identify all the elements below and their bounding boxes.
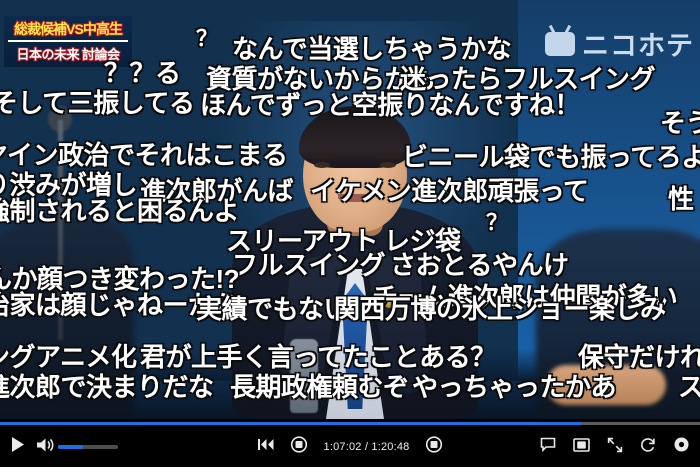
danmaku-comment: 性 [668, 186, 694, 212]
volume-control[interactable] [36, 437, 118, 458]
danmaku-comment: 保守だけれ [578, 344, 700, 370]
video-stage[interactable]: 総裁候補VS中高生 日本の未来 討論会 ニコホテ ？なんで当選しちゃうかな？？る… [0, 0, 700, 419]
reload-icon[interactable] [640, 437, 656, 458]
fullscreen-icon[interactable] [607, 437, 623, 458]
settings-gear-icon[interactable] [673, 436, 690, 458]
channel-logo-text: ニコホテ [582, 24, 694, 63]
danmaku-comment: 進次郎で決まりだな [0, 374, 214, 400]
danmaku-comment: 君が上手く言ってたことある？ [140, 344, 496, 370]
danmaku-comment: んか顔つき変わった!? [0, 266, 239, 292]
speaker-eye-left [314, 162, 330, 168]
danmaku-comment: 実績でもない [196, 296, 349, 322]
screenshot-button[interactable] [291, 436, 308, 458]
danmaku-comment: ビニール袋でも振ってろよ [402, 144, 700, 170]
volume-slider-fill [58, 445, 83, 449]
seek-bar[interactable] [0, 419, 700, 427]
play-button[interactable] [9, 436, 26, 458]
seek-progress-fill [0, 422, 581, 425]
danmaku-comment: ヤイン政治でそれはこまる [0, 142, 287, 168]
danmaku-comment: フルスイング [232, 252, 385, 278]
danmaku-comment: 長期政権頼むぞ [230, 374, 409, 400]
danmaku-comment: ほんでずっと空振りなんですね！ [200, 92, 580, 118]
tv-icon [545, 32, 575, 56]
volume-slider[interactable] [58, 445, 118, 449]
danmaku-comment: やっちゃったかあ [412, 374, 616, 400]
danmaku-comment: なんで当選しちゃうかな [232, 36, 511, 62]
speaker-eyebrow-right [378, 154, 398, 158]
danmaku-comment: 関西万博の氷上ショー楽しみ [334, 296, 666, 322]
danmaku-comment: り渋みが増し [0, 172, 137, 198]
capture-button[interactable] [425, 436, 442, 458]
program-logo-line1: 総裁候補VS中高生 [8, 19, 128, 39]
picture-in-picture-icon[interactable] [573, 438, 590, 457]
danmaku-comment: そう [660, 110, 700, 136]
video-player: 総裁候補VS中高生 日本の未来 討論会 ニコホテ ？なんで当選しちゃうかな？？る… [0, 0, 700, 467]
danmaku-comment: そして三振してる [0, 90, 194, 116]
comment-toggle-icon[interactable] [540, 437, 556, 457]
danmaku-comment: さおとるやんけ [390, 252, 569, 278]
skip-back-button[interactable] [258, 437, 275, 457]
danmaku-comment: 強制されると困るんよ [0, 198, 239, 224]
speaker-eye-right [380, 162, 396, 168]
danmaku-comment: ？？る [104, 60, 181, 86]
danmaku-comment: 迷ったらフルスイング [400, 66, 655, 92]
volume-icon[interactable] [36, 437, 54, 458]
danmaku-comment: ？ [486, 212, 508, 234]
channel-logo: ニコホテ [545, 24, 694, 63]
speaker-eyebrow-left [312, 154, 332, 158]
danmaku-comment: ス [678, 374, 700, 400]
program-logo-divider [8, 40, 128, 42]
danmaku-comment: ングアニメ化 [0, 344, 136, 370]
time-display: 1:07:02 / 1:20:48 [324, 441, 410, 453]
danmaku-comment: ？ [196, 28, 218, 50]
danmaku-comment: イケメン進次郎頑張って [310, 178, 588, 204]
player-controls: 1:07:02 / 1:20:48 [0, 419, 700, 467]
